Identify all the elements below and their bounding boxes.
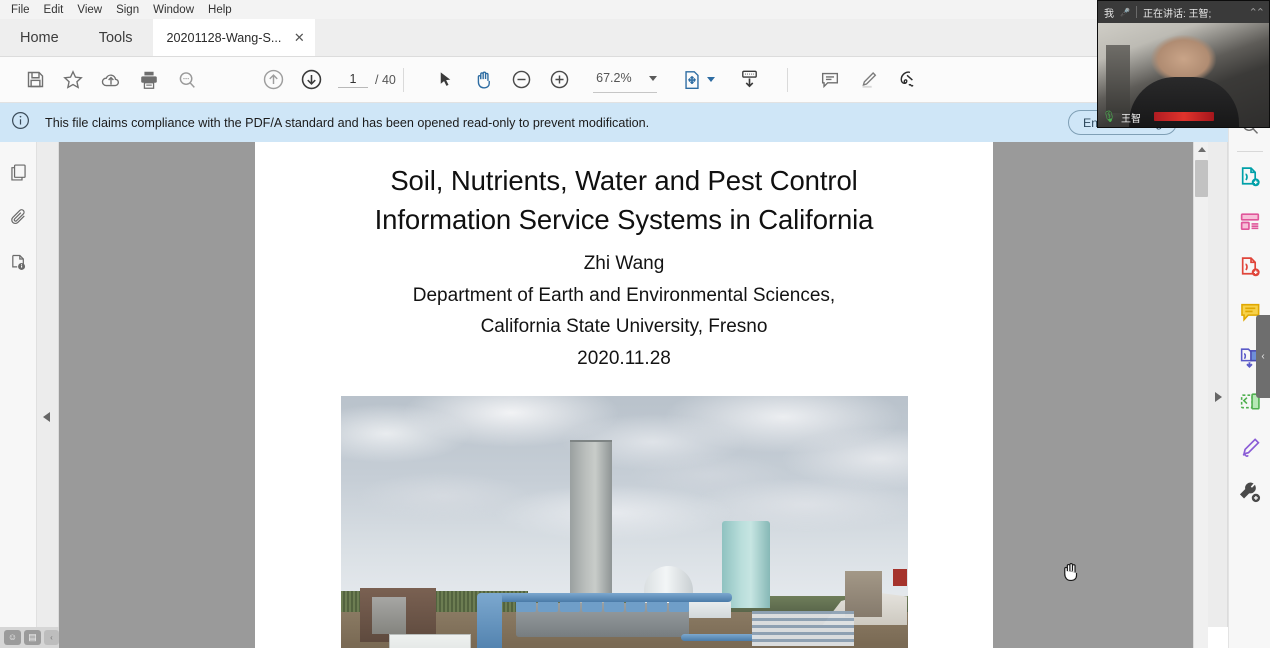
tab-home[interactable]: Home xyxy=(0,19,79,56)
photo-silo xyxy=(570,440,612,607)
menu-item-edit[interactable]: Edit xyxy=(37,3,71,17)
status-expand-icon[interactable]: ‹ xyxy=(44,630,59,645)
zoom-out-icon[interactable] xyxy=(503,61,541,99)
left-navigation-rail xyxy=(0,142,37,648)
star-icon[interactable] xyxy=(54,61,92,99)
right-panel-collapse-strip[interactable] xyxy=(1208,142,1228,627)
menu-bar: File Edit View Sign Window Help xyxy=(0,0,1270,19)
page-title: Soil, Nutrients, Water and Pest Control … xyxy=(255,161,993,239)
right-rail-divider xyxy=(1237,151,1263,152)
chevron-down-icon[interactable] xyxy=(649,76,657,81)
fit-page-icon[interactable] xyxy=(673,61,711,99)
chevron-right-icon[interactable] xyxy=(43,412,50,422)
create-pdf-icon[interactable] xyxy=(1229,245,1270,290)
page-title-line-2: Information Service Systems in Californi… xyxy=(255,200,993,239)
self-label: 我 xyxy=(1104,5,1114,20)
menu-item-file[interactable]: File xyxy=(4,3,37,17)
zoom-in-icon[interactable] xyxy=(541,61,579,99)
attachments-icon[interactable] xyxy=(0,195,37,240)
more-tools-icon[interactable] xyxy=(1229,470,1270,515)
toolbar-separator-1 xyxy=(403,68,404,92)
page-photo xyxy=(341,396,908,648)
page-date: 2020.11.28 xyxy=(255,344,993,374)
document-viewport[interactable]: Soil, Nutrients, Water and Pest Control … xyxy=(59,142,1193,648)
participant-name-label: 王智 xyxy=(1121,110,1141,125)
zoom-level-value: 67.2% xyxy=(593,71,635,85)
photo-trailer xyxy=(845,571,882,616)
cloud-upload-icon[interactable] xyxy=(92,61,130,99)
main-toolbar: / 40 67.2% xyxy=(0,57,1270,103)
microphone-icon[interactable]: 🎤 xyxy=(1120,8,1130,17)
page-number-input[interactable] xyxy=(338,72,368,88)
speaking-status-label: 正在讲话: 王智; xyxy=(1143,5,1211,20)
chevron-left-icon[interactable] xyxy=(1215,392,1222,402)
vertical-scrollbar[interactable] xyxy=(1193,142,1208,648)
photo-pipe-right-run xyxy=(681,634,760,641)
keyboard-icon[interactable]: ▤ xyxy=(24,630,41,645)
tab-document[interactable]: 20201128-Wang-S... ✕ xyxy=(153,19,316,56)
document-info-icon[interactable] xyxy=(0,240,37,285)
scroll-mode-icon[interactable] xyxy=(731,61,769,99)
print-icon[interactable] xyxy=(130,61,168,99)
left-panel-collapse-strip[interactable] xyxy=(37,142,59,627)
page-thumbnails-icon[interactable] xyxy=(0,150,37,195)
photo-sky xyxy=(341,396,908,605)
pdf-reader-window: File Edit View Sign Window Help Home Too… xyxy=(0,0,1270,648)
info-icon xyxy=(10,110,31,136)
hand-tool-icon[interactable] xyxy=(465,61,503,99)
scroll-up-icon[interactable] xyxy=(1194,142,1209,157)
comment-icon[interactable] xyxy=(811,61,849,99)
video-feed[interactable]: 🎙 王智 xyxy=(1098,23,1269,128)
next-page-icon[interactable] xyxy=(292,61,330,99)
tab-strip: Home Tools 20201128-Wang-S... ✕ xyxy=(0,19,1270,57)
photo-pipe-horizontal-upper xyxy=(482,593,731,603)
chevron-up-icon[interactable]: ⌃⌃ xyxy=(1249,6,1263,19)
right-panel-toggle-tab[interactable]: ‹ xyxy=(1256,315,1270,398)
photo-pipe-elbow xyxy=(477,593,502,648)
page-navigation: / 40 xyxy=(338,72,396,88)
page-affiliation-line-2: California State University, Fresno xyxy=(255,312,993,342)
notice-message: This file claims compliance with the PDF… xyxy=(45,116,649,130)
fill-and-sign-icon[interactable] xyxy=(1229,425,1270,470)
pdf-page-1: Soil, Nutrients, Water and Pest Control … xyxy=(255,142,993,648)
video-conference-overlay[interactable]: 我 🎤 正在讲话: 王智; ⌃⌃ 🎙 王智 xyxy=(1097,0,1270,128)
export-pdf-icon[interactable] xyxy=(1229,155,1270,200)
close-icon[interactable]: ✕ xyxy=(291,30,307,46)
accessibility-icon[interactable]: ☺ xyxy=(4,630,21,645)
save-icon[interactable] xyxy=(16,61,54,99)
zoom-level-control[interactable]: 67.2% xyxy=(593,67,657,93)
video-hoodie-logo xyxy=(1154,112,1214,121)
organize-pages-icon[interactable] xyxy=(1229,200,1270,245)
toolbar-separator-2 xyxy=(787,68,788,92)
microphone-active-icon: 🎙 xyxy=(1102,112,1116,123)
menu-item-window[interactable]: Window xyxy=(146,3,201,17)
sign-icon[interactable] xyxy=(887,61,925,99)
menu-item-view[interactable]: View xyxy=(70,3,109,17)
previous-page-icon[interactable] xyxy=(254,61,292,99)
photo-red-vehicle xyxy=(893,569,907,586)
select-tool-icon[interactable] xyxy=(427,61,465,99)
hand-cursor xyxy=(1060,560,1082,584)
status-bar: ☺ ▤ ‹ xyxy=(0,627,59,648)
video-participant-footer: 🎙 王智 xyxy=(1102,110,1141,125)
left-rail-spacer xyxy=(0,142,36,150)
fit-page-chevron-down-icon[interactable] xyxy=(707,77,715,82)
menu-item-help[interactable]: Help xyxy=(201,3,239,17)
page-title-line-1: Soil, Nutrients, Water and Pest Control xyxy=(255,161,993,200)
search-icon[interactable] xyxy=(168,61,206,99)
photo-fertilizer-pallets xyxy=(752,611,854,646)
highlight-icon[interactable] xyxy=(849,61,887,99)
video-overlay-header: 我 🎤 正在讲话: 王智; ⌃⌃ xyxy=(1098,1,1269,23)
photo-electrical-box xyxy=(372,597,406,634)
video-background-doorway xyxy=(1106,45,1130,113)
page-total-label: / 40 xyxy=(375,73,396,87)
page-author: Zhi Wang xyxy=(255,249,993,279)
tab-tools[interactable]: Tools xyxy=(79,19,153,56)
page-affiliation-line-1: Department of Earth and Environmental Sc… xyxy=(255,281,993,311)
document-tab-label: 20201128-Wang-S... xyxy=(167,31,282,45)
header-divider xyxy=(1136,6,1137,18)
menu-item-sign[interactable]: Sign xyxy=(109,3,146,17)
photo-chemical-tote xyxy=(389,634,471,648)
scrollbar-thumb[interactable] xyxy=(1195,160,1208,197)
